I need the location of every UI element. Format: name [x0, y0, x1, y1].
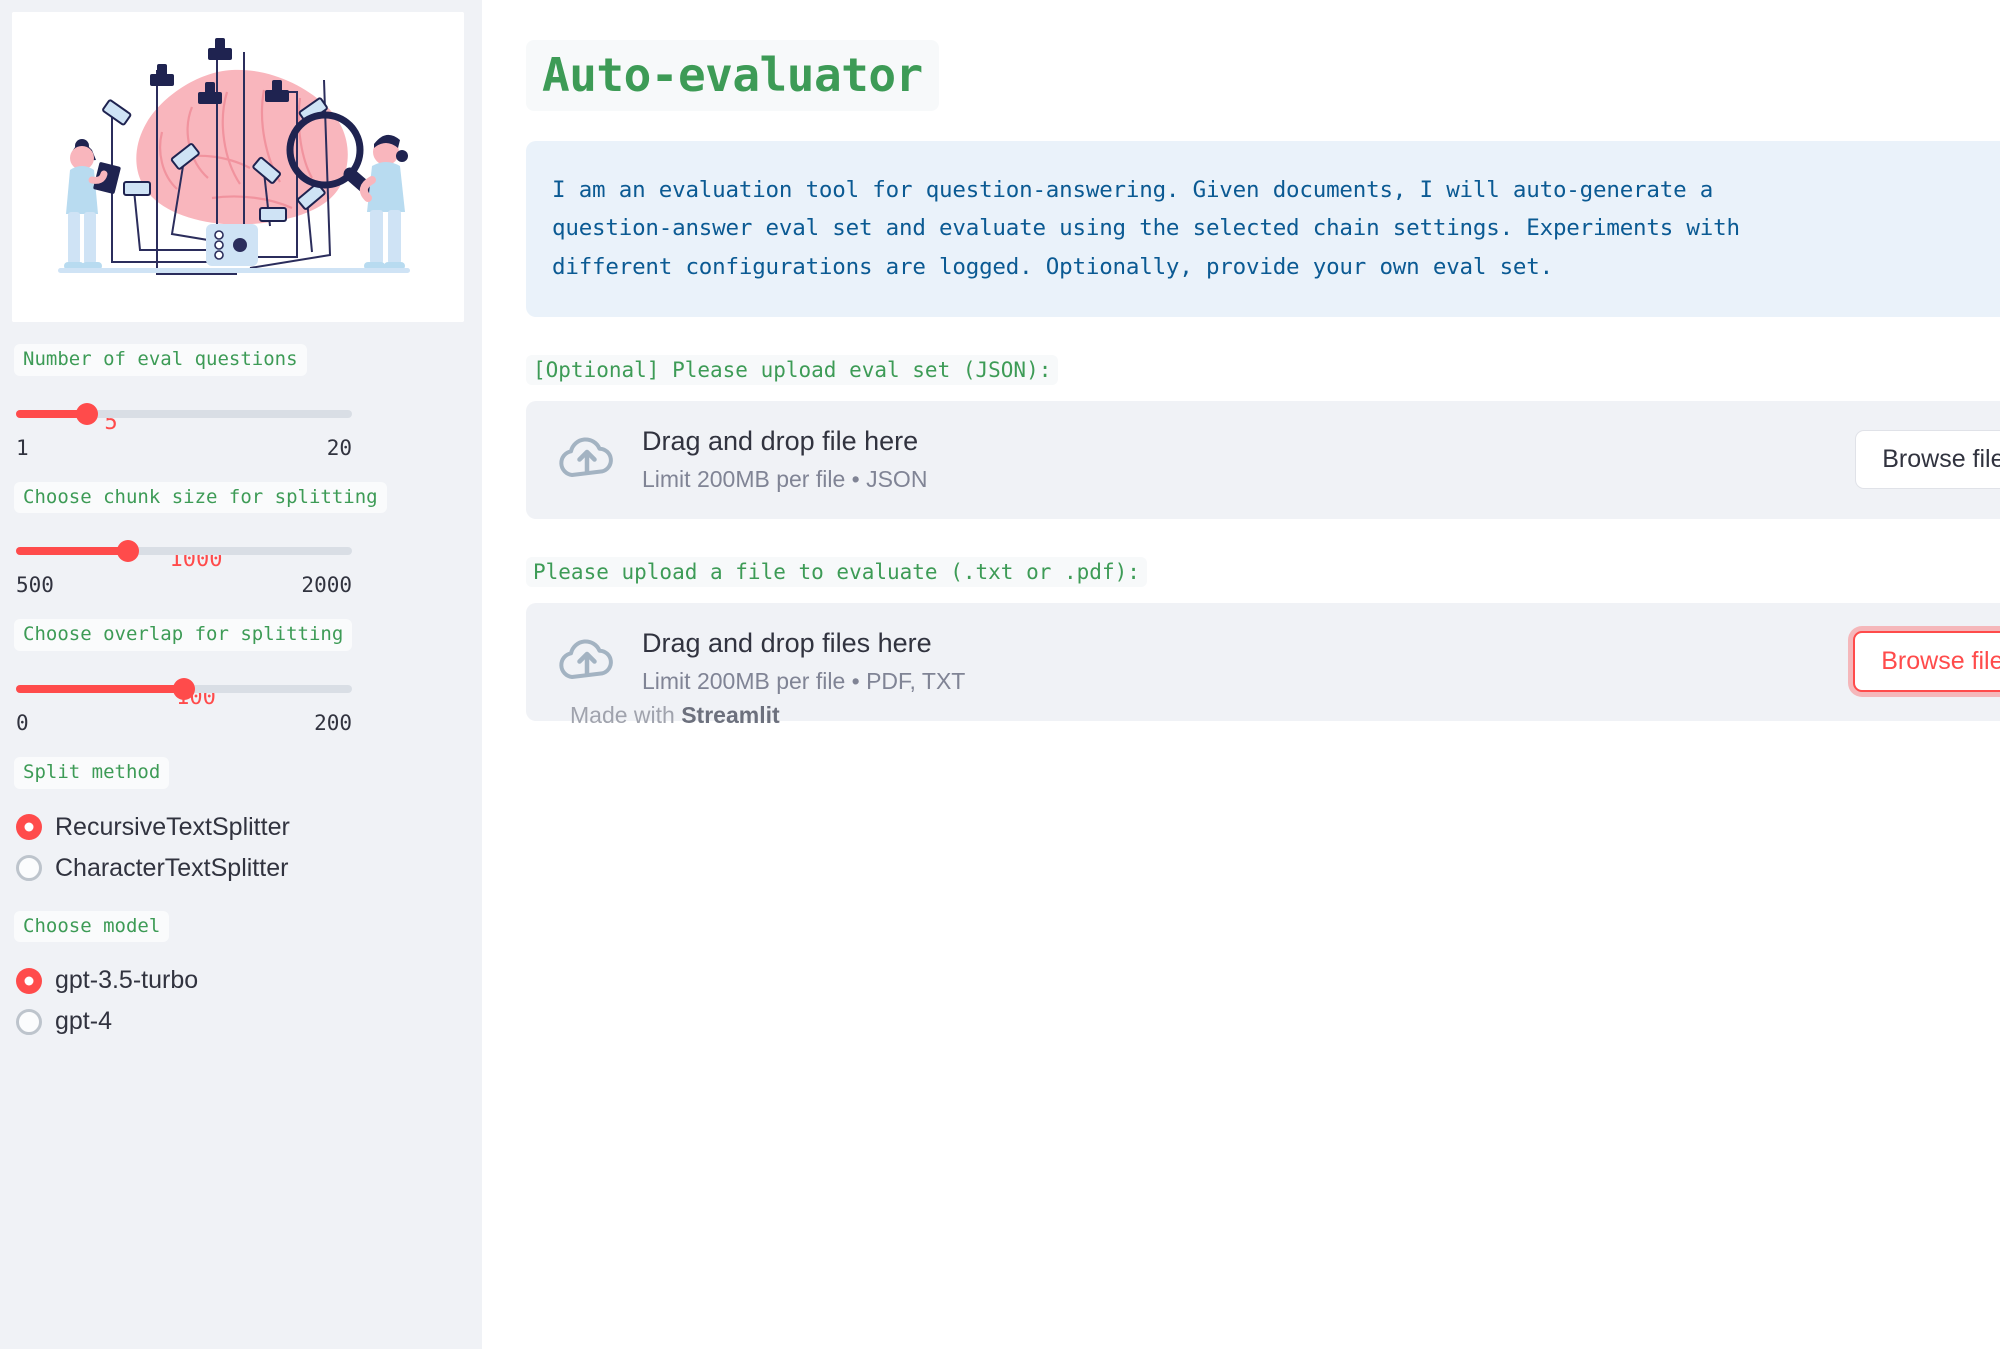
slider-track-overlap[interactable]: [16, 685, 352, 693]
slider-label-overlap: Choose overlap for splitting: [14, 619, 352, 651]
slider-max-overlap: 200: [314, 711, 352, 735]
info-line-1: I am an evaluation tool for question-ans…: [552, 171, 2000, 210]
slider-fill-overlap: [16, 685, 184, 693]
streamlit-app: Number of eval questions 5 1 20 Choose c…: [0, 0, 2000, 1349]
document-limit-text: Limit 200MB per file • PDF, TXT: [642, 667, 1853, 697]
radio-unselected-icon[interactable]: [16, 855, 42, 881]
footer-made-with-streamlit: Made with Streamlit: [570, 702, 780, 729]
slider-label-num-eval-questions: Number of eval questions: [14, 344, 307, 376]
slider-range-overlap: 0 200: [16, 711, 352, 735]
slider-range-chunk-size: 500 2000: [16, 573, 352, 597]
document-uploader-label: Please upload a file to evaluate (.txt o…: [526, 557, 1147, 587]
slider-thumb-overlap[interactable]: [173, 678, 195, 700]
footer-prefix: Made with: [570, 702, 681, 728]
slider-field-chunk-size: Choose chunk size for splitting 1000 500…: [12, 482, 470, 598]
radio-selected-icon[interactable]: [16, 968, 42, 994]
slider-field-overlap: Choose overlap for splitting 100 0 200: [12, 619, 470, 735]
eval-set-uploader-label: [Optional] Please upload eval set (JSON)…: [526, 355, 1058, 385]
cloud-upload-icon: [556, 635, 618, 688]
slider-label-chunk-size: Choose chunk size for splitting: [14, 482, 387, 514]
choose-model-field: Choose model gpt-3.5-turbo gpt-4: [12, 911, 470, 1043]
chunk-size-slider[interactable]: 1000 500 2000: [14, 547, 468, 597]
eval-set-drag-title: Drag and drop file here: [642, 424, 1855, 459]
radio-unselected-icon[interactable]: [16, 1009, 42, 1035]
eval-set-uploader: [Optional] Please upload eval set (JSON)…: [526, 355, 2000, 519]
slider-fill-chunk-size: [16, 547, 128, 555]
slider-max-chunk-size: 2000: [301, 573, 352, 597]
choose-model-label: Choose model: [14, 911, 169, 943]
slider-track-chunk-size[interactable]: [16, 547, 352, 555]
sidebar: Number of eval questions 5 1 20 Choose c…: [0, 0, 482, 1349]
info-callout: I am an evaluation tool for question-ans…: [526, 141, 2000, 317]
eval-set-browse-files-button[interactable]: Browse files: [1855, 430, 2000, 489]
overlap-slider[interactable]: 100 0 200: [14, 685, 468, 735]
radio-label-gpt-35-turbo: gpt-3.5-turbo: [55, 966, 198, 995]
footer-brand[interactable]: Streamlit: [681, 702, 779, 728]
radio-option-gpt-35-turbo[interactable]: gpt-3.5-turbo: [16, 960, 468, 1001]
radio-selected-icon[interactable]: [16, 814, 42, 840]
slider-max-num-eval-questions: 20: [327, 436, 352, 460]
radio-label-charactertextsplitter: CharacterTextSplitter: [55, 854, 288, 883]
slider-track-num-eval-questions[interactable]: [16, 410, 352, 418]
eval-set-dropzone[interactable]: Drag and drop file here Limit 200MB per …: [526, 401, 2000, 519]
split-method-radio-group: RecursiveTextSplitter CharacterTextSplit…: [14, 807, 468, 889]
page-title: Auto-evaluator: [526, 40, 939, 111]
slider-min-overlap: 0: [16, 711, 29, 735]
radio-option-gpt-4[interactable]: gpt-4: [16, 1001, 468, 1042]
radio-label-gpt-4: gpt-4: [55, 1007, 112, 1036]
radio-option-charactertextsplitter[interactable]: CharacterTextSplitter: [16, 848, 468, 889]
radio-label-recursivetextsplitter: RecursiveTextSplitter: [55, 813, 290, 842]
brain-analysis-illustration: [12, 12, 464, 322]
slider-min-num-eval-questions: 1: [16, 436, 29, 460]
info-line-2: question-answer eval set and evaluate us…: [552, 209, 2000, 248]
split-method-field: Split method RecursiveTextSplitter Chara…: [12, 757, 470, 889]
model-radio-group: gpt-3.5-turbo gpt-4: [14, 960, 468, 1042]
document-browse-files-button[interactable]: Browse files: [1853, 631, 2000, 692]
main-content: Auto-evaluator I am an evaluation tool f…: [482, 0, 2000, 1349]
num-eval-questions-slider[interactable]: 5 1 20: [14, 410, 468, 460]
radio-option-recursivetextsplitter[interactable]: RecursiveTextSplitter: [16, 807, 468, 848]
slider-field-num-eval-questions: Number of eval questions 5 1 20: [12, 344, 470, 460]
document-dropzone-texts: Drag and drop files here Limit 200MB per…: [642, 626, 1853, 697]
eval-set-dropzone-texts: Drag and drop file here Limit 200MB per …: [642, 424, 1855, 495]
slider-min-chunk-size: 500: [16, 573, 54, 597]
document-drag-title: Drag and drop files here: [642, 626, 1853, 661]
slider-thumb-chunk-size[interactable]: [117, 540, 139, 562]
slider-range-num-eval-questions: 1 20: [16, 436, 352, 460]
cloud-upload-icon: [556, 433, 618, 486]
eval-set-limit-text: Limit 200MB per file • JSON: [642, 465, 1855, 495]
info-line-3: different configurations are logged. Opt…: [552, 248, 2000, 287]
split-method-label: Split method: [14, 757, 169, 789]
slider-thumb-num-eval-questions[interactable]: [76, 403, 98, 425]
document-uploader: Please upload a file to evaluate (.txt o…: [526, 557, 2000, 721]
